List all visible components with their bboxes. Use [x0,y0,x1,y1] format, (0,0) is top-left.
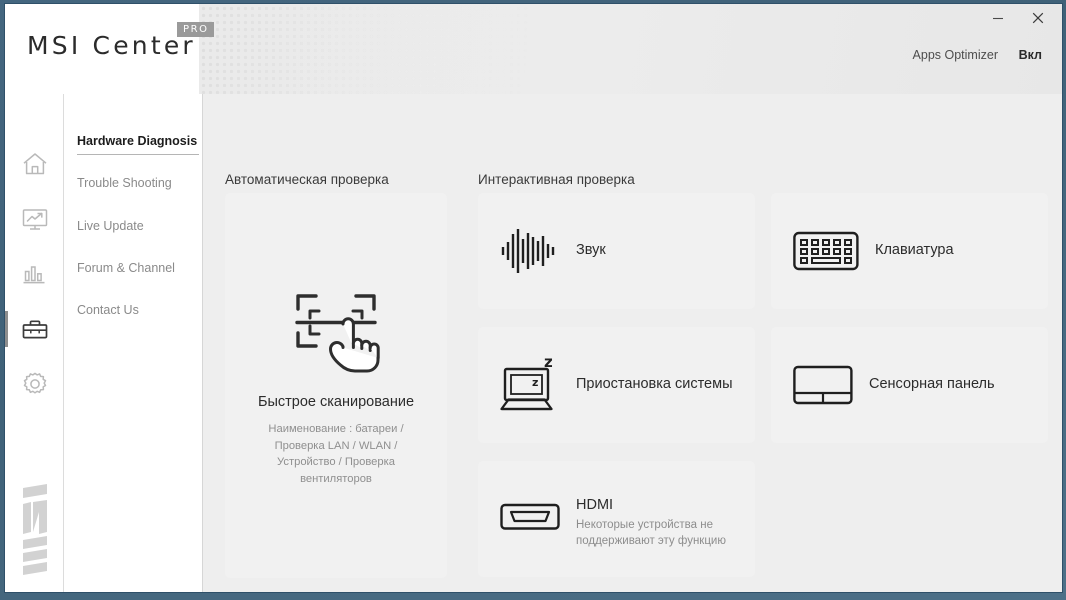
window-header: MSI Center PRO Apps Optimizer Вкл [5,4,1062,94]
quick-scan-description: Наименование : батареи / Проверка LAN / … [243,421,429,487]
toolbox-icon [20,314,50,344]
menu-item-trouble-shooting[interactable]: Trouble Shooting [77,176,199,190]
card-sound[interactable]: Звук [478,193,755,309]
main-content: Автоматическая проверка [203,94,1062,592]
menu-active-underline [77,154,199,155]
card-keyboard[interactable]: Клавиатура [771,193,1048,309]
card-touchpad-label: Сенсорная панель [869,376,995,392]
card-system-suspend-label: Приостановка системы [576,376,733,392]
sound-wave-icon [500,225,560,277]
card-sound-label: Звук [576,242,606,258]
msi-logo-icon [15,482,55,580]
rail-item-home[interactable] [5,137,64,191]
card-keyboard-label: Клавиатура [875,242,954,258]
active-indicator [5,311,8,347]
app-title: MSI Center [27,31,196,60]
touchpad-icon [793,365,853,405]
card-system-suspend-text: Приостановка системы [576,376,733,392]
rail-item-performance[interactable] [5,192,64,246]
apps-optimizer-label[interactable]: Apps Optimizer [913,48,998,62]
card-hdmi-label: HDMI [576,497,726,513]
card-touchpad-text: Сенсорная панель [869,376,995,392]
menu-item-label: Trouble Shooting [77,176,172,190]
card-quick-scan[interactable]: Быстрое сканирование Наименование : бата… [225,193,447,578]
svg-text:z: z [544,353,553,371]
close-button[interactable] [1018,4,1058,32]
card-keyboard-text: Клавиатура [875,242,954,258]
bar-chart-icon [20,259,50,289]
card-hdmi[interactable]: HDMI Некоторые устройства не поддерживаю… [478,461,755,577]
menu-item-live-update[interactable]: Live Update [77,219,199,233]
quick-scan-title: Быстрое сканирование [225,394,447,410]
menu-item-label: Forum & Channel [77,261,175,275]
menu-item-label: Live Update [77,219,144,233]
menu-item-label: Contact Us [77,303,139,317]
msi-vertical-logo [5,476,64,586]
apps-optimizer-state[interactable]: Вкл [1019,48,1042,62]
icon-rail [5,94,64,592]
rail-item-settings[interactable] [5,357,64,411]
card-sound-text: Звук [576,242,606,258]
card-system-suspend[interactable]: z z Приостановка системы [478,327,755,443]
hdmi-port-icon [500,499,560,539]
keyboard-icon [793,231,859,271]
minimize-button[interactable] [978,4,1018,32]
laptop-sleep-icon: z z [500,353,562,415]
auto-section-title: Автоматическая проверка [225,172,389,187]
rail-item-support[interactable] [5,302,64,356]
header-halftone-dots-shadow [199,4,529,94]
card-touchpad[interactable]: Сенсорная панель [771,327,1048,443]
section-menu: Hardware Diagnosis Trouble Shooting Live… [65,94,203,592]
gear-icon [20,369,50,399]
pro-badge: PRO [177,22,214,37]
interactive-section-title: Интерактивная проверка [478,172,635,187]
card-hdmi-text: HDMI Некоторые устройства не поддерживаю… [576,497,726,549]
menu-item-contact-us[interactable]: Contact Us [77,303,199,317]
scan-hand-icon [286,281,386,390]
svg-text:z: z [532,376,538,389]
msi-center-window: MSI Center PRO Apps Optimizer Вкл [4,3,1063,593]
rail-item-statistics[interactable] [5,247,64,301]
monitor-performance-icon [20,204,50,234]
menu-item-hardware-diagnosis[interactable]: Hardware Diagnosis [77,134,199,148]
menu-item-forum-channel[interactable]: Forum & Channel [77,261,199,275]
home-icon [20,149,50,179]
card-hdmi-sublabel: Некоторые устройства не поддерживают эту… [576,517,726,549]
menu-item-label: Hardware Diagnosis [77,134,197,148]
